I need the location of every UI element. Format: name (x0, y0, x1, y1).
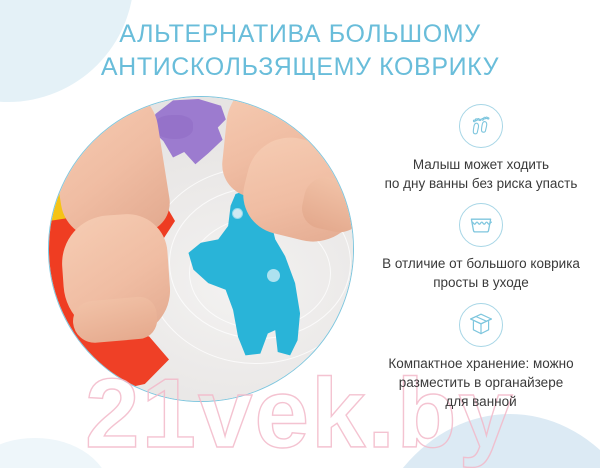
dinosaur-suction-cup (233, 209, 242, 218)
photo-content (49, 97, 353, 401)
decorative-wave-bottom-right (360, 414, 600, 468)
page-title: АЛЬТЕРНАТИВА БОЛЬШОМУ АНТИСКОЛЬЗЯЩЕМУ КО… (0, 18, 600, 84)
dinosaur-suction-cup (267, 269, 280, 282)
footprints-icon (459, 104, 503, 148)
promo-banner: АЛЬТЕРНАТИВА БОЛЬШОМУ АНТИСКОЛЬЗЯЩЕМУ КО… (0, 0, 600, 468)
decorative-blob-bottom-left (0, 438, 110, 468)
feature-item-walk: Малыш может ходить по дну ванны без риск… (362, 104, 600, 193)
feature-list: Малыш может ходить по дну ванны без риск… (362, 104, 600, 421)
baby-left-toes (71, 295, 158, 344)
wash-basin-icon (459, 203, 503, 247)
feature-text: Малыш может ходить по дну ванны без риск… (362, 155, 600, 193)
title-line-2: АНТИСКОЛЬЗЯЩЕМУ КОВРИКУ (0, 51, 600, 84)
product-photo (48, 96, 354, 402)
feature-text: В отличие от большого коврика просты в у… (362, 254, 600, 292)
feature-text: Компактное хранение: можно разместить в … (362, 354, 600, 411)
open-box-icon (459, 303, 503, 347)
feature-item-easy-care: В отличие от большого коврика просты в у… (362, 203, 600, 292)
title-line-1: АЛЬТЕРНАТИВА БОЛЬШОМУ (0, 18, 600, 51)
feature-item-storage: Компактное хранение: можно разместить в … (362, 303, 600, 411)
